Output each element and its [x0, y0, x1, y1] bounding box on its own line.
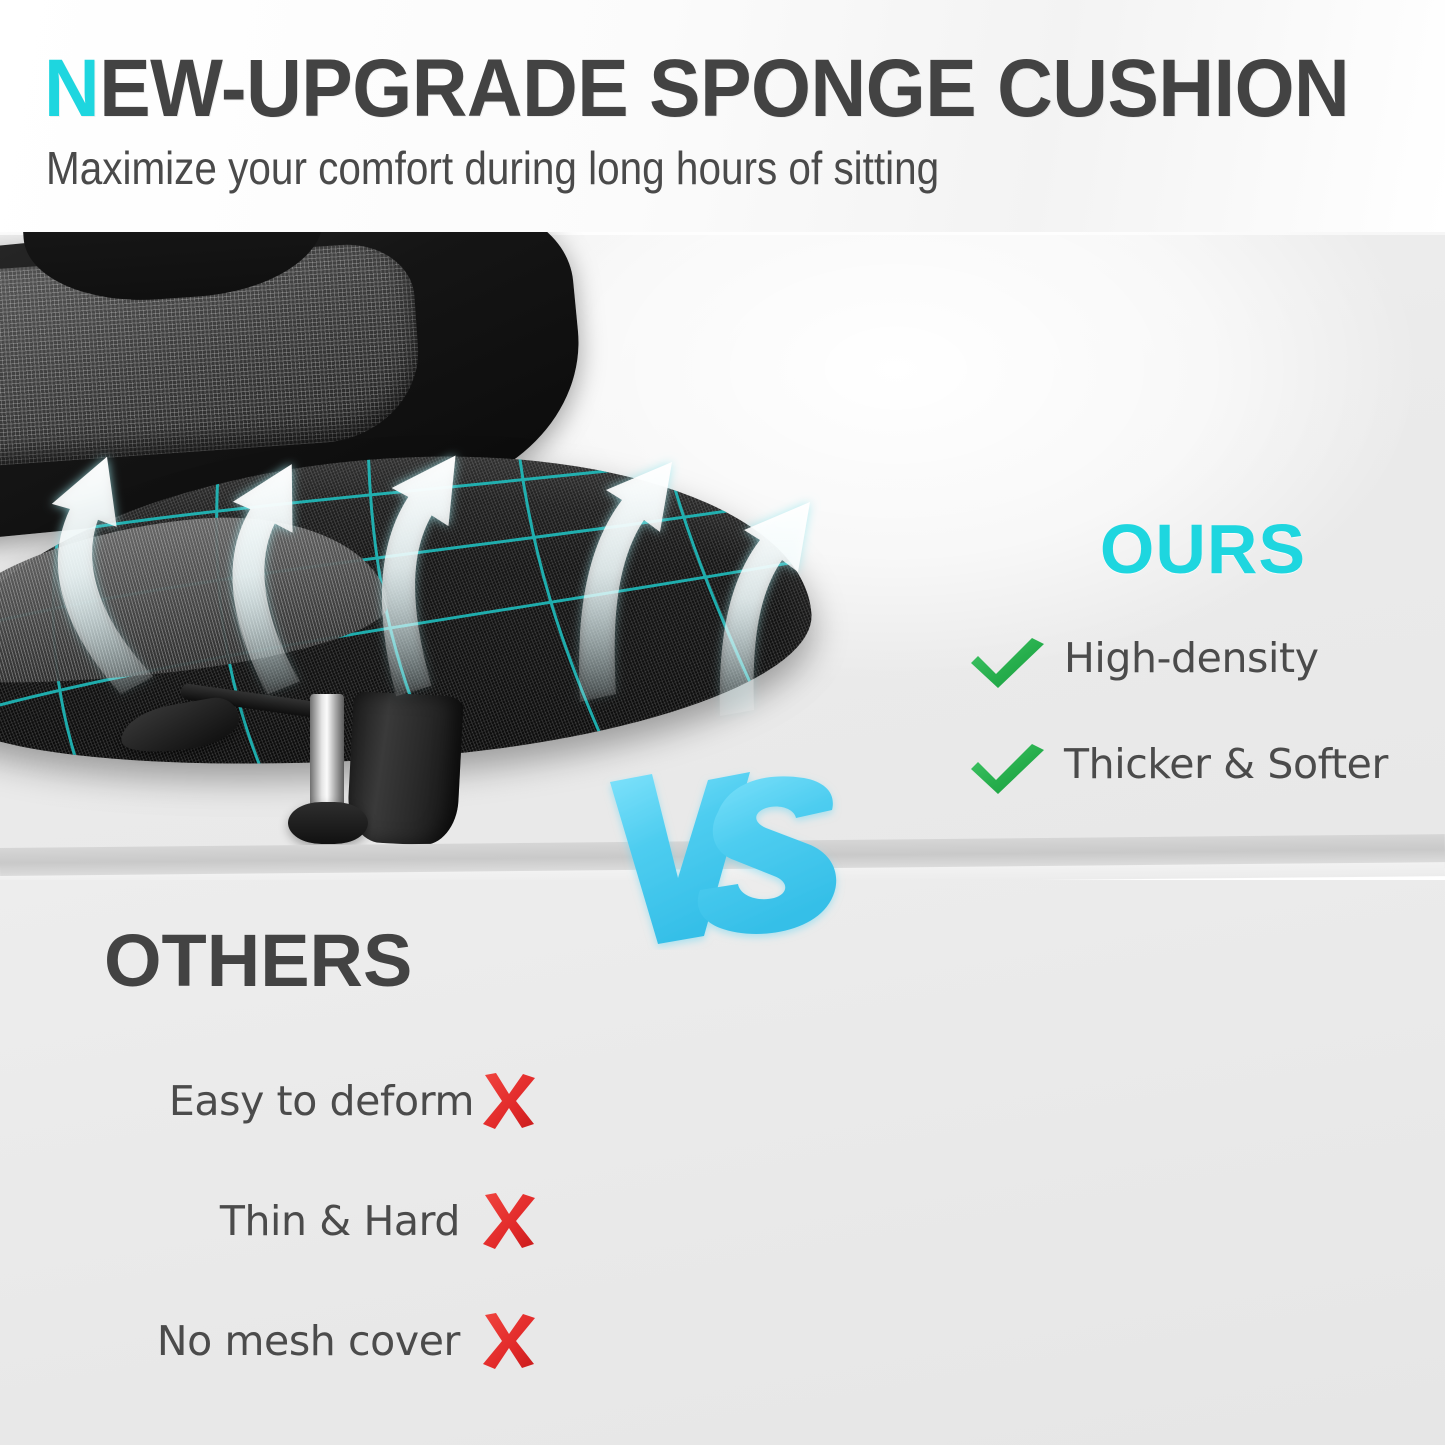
- list-item-label: High-density: [1064, 632, 1319, 684]
- page-title-accent-letter: N: [44, 43, 99, 134]
- page-title-rest: EW-UPGRADE SPONGE CUSHION: [99, 43, 1349, 134]
- cross-mark-icon: [478, 1072, 540, 1130]
- airflow-arrow-2: [215, 464, 327, 697]
- airflow-arrow-1: [29, 457, 171, 702]
- list-item-label: Thin & Hard: [220, 1197, 460, 1245]
- airflow-arrow-4: [579, 462, 672, 702]
- cross-mark-icon: [478, 1192, 540, 1250]
- page-subtitle: Maximize your comfort during long hours …: [46, 142, 939, 194]
- list-item: High-density: [968, 632, 1438, 690]
- airflow-arrow-3: [372, 456, 472, 697]
- ours-feature-list: High-density Thicker & Softer Breathable…: [968, 632, 1438, 856]
- others-title: OTHERS: [104, 922, 540, 1000]
- page-title: NEW-UPGRADE SPONGE CUSHION: [44, 46, 1349, 132]
- list-item-label: No mesh cover: [157, 1317, 460, 1365]
- vs-letterforms: [610, 772, 836, 944]
- list-item-label: Easy to deform: [169, 1077, 474, 1125]
- list-item: No mesh cover: [60, 1312, 540, 1370]
- check-mark-icon: [968, 742, 1048, 796]
- check-mark-icon: [968, 636, 1048, 690]
- ours-title: OURS: [968, 512, 1438, 586]
- list-item: Easy to deform: [60, 1072, 540, 1130]
- others-feature-block: OTHERS Easy to deform Thin & Hard: [60, 922, 540, 1370]
- others-feature-list: Easy to deform Thin & Hard No m: [60, 1072, 540, 1370]
- list-item: Thin & Hard: [60, 1192, 540, 1250]
- vs-badge: [600, 760, 850, 950]
- infographic-root: NEW-UPGRADE SPONGE CUSHION Maximize your…: [0, 0, 1445, 1445]
- airflow-arrow-shapes: [29, 456, 810, 716]
- header-banner: NEW-UPGRADE SPONGE CUSHION Maximize your…: [0, 0, 1445, 232]
- cross-mark-icon: [478, 1312, 540, 1370]
- ours-feature-block: OURS High-density Thicker & Softe: [968, 512, 1438, 856]
- others-panel: OTHERS Easy to deform Thin & Hard: [0, 880, 1445, 1445]
- list-item: Thicker & Softer: [968, 738, 1438, 796]
- airflow-arrow-5: [720, 502, 810, 716]
- list-item-label: Thicker & Softer: [1064, 738, 1388, 790]
